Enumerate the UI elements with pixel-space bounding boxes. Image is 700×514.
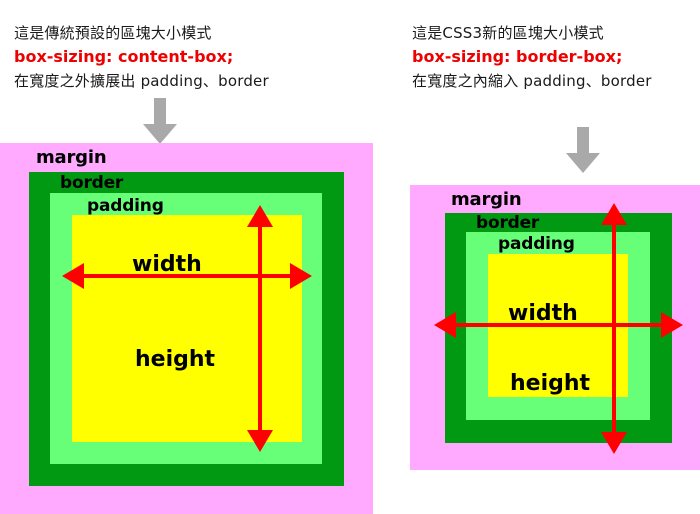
height-measure-arrow [601,203,627,454]
caption-left-code: box-sizing: content-box; [14,45,269,70]
arrow-head [566,153,600,173]
arrow-line [258,217,262,440]
caption-border-box: 這是CSS3新的區塊大小模式 box-sizing: border-box; 在… [412,22,652,93]
label-margin: margin [451,189,521,210]
arrow-head-bottom [601,432,627,454]
box-model-content-box: margin border padding width height [0,143,373,514]
caption-left-intro: 這是傳統預設的區塊大小模式 [14,22,269,45]
arrow-shaft [577,127,589,155]
caption-left-note: 在寬度之外擴展出 padding、border [14,70,269,93]
caption-right-intro: 這是CSS3新的區塊大小模式 [412,22,652,45]
label-padding: padding [87,196,164,216]
arrow-head-right [661,312,683,338]
label-height: height [135,347,215,372]
arrow-shaft [154,98,166,126]
arrow-down-icon [143,98,177,144]
arrow-head [143,124,177,144]
arrow-head-right [290,263,312,289]
caption-right-code: box-sizing: border-box; [412,45,652,70]
box-model-border-box: margin border padding width height [410,185,700,470]
label-border: border [476,213,539,233]
label-width: width [508,301,578,326]
label-margin: margin [36,147,106,168]
caption-right-note: 在寬度之內縮入 padding、border [412,70,652,93]
label-width: width [132,252,202,277]
arrow-head-bottom [247,430,273,452]
diagram-canvas: 這是傳統預設的區塊大小模式 box-sizing: content-box; 在… [0,0,700,514]
label-padding: padding [498,234,575,254]
label-height: height [510,371,590,396]
arrow-down-icon [566,127,600,173]
label-border: border [60,173,123,193]
height-measure-arrow [247,205,273,452]
arrow-line [612,215,616,442]
caption-content-box: 這是傳統預設的區塊大小模式 box-sizing: content-box; 在… [14,22,269,93]
